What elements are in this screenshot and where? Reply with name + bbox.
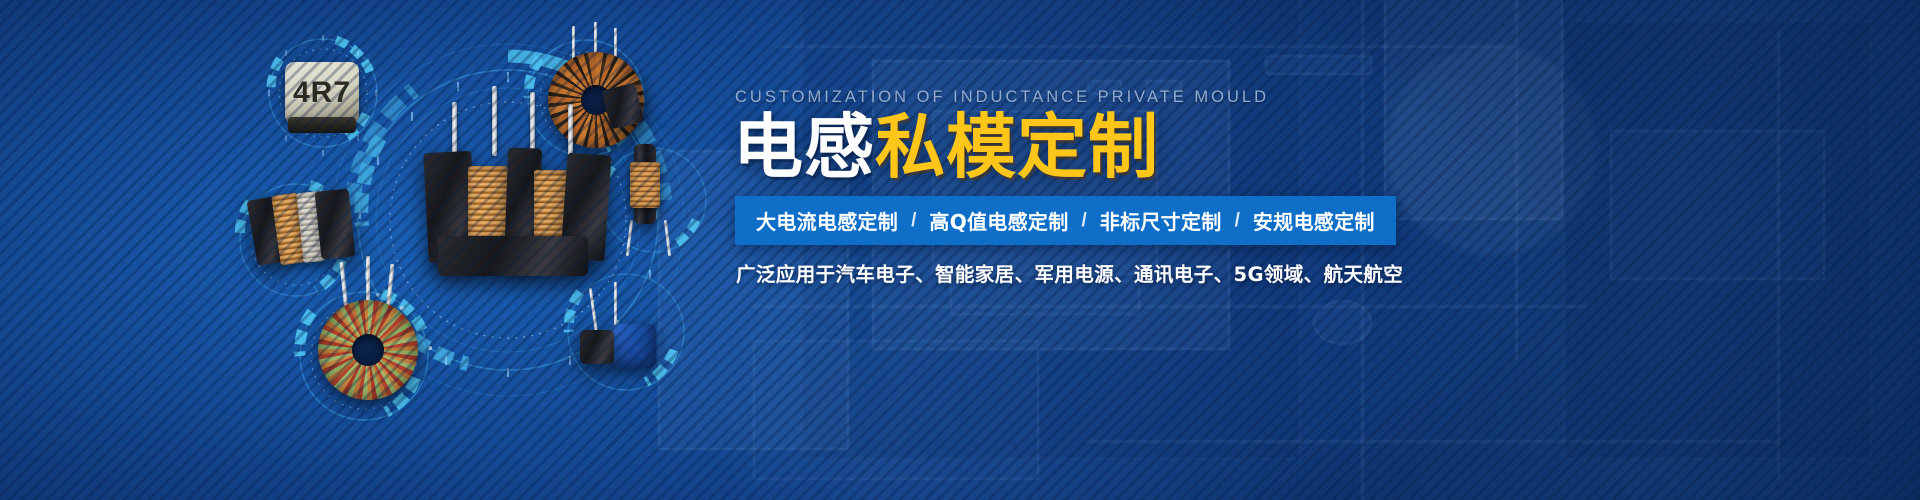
product-toroid-green-bottom bbox=[318, 300, 418, 400]
feature-item-0: 大电流电感定制 bbox=[756, 206, 898, 235]
product-drum-core-inductor bbox=[620, 150, 680, 242]
smd-chip-body: 4R7 bbox=[285, 62, 359, 124]
page-title: 电感私模定制 bbox=[733, 112, 1159, 182]
feature-bar: 大电流电感定制 / 高Q值电感定制 / 非标尺寸定制 / 安规电感定制 bbox=[735, 196, 1396, 245]
english-eyebrow: CUSTOMIZATION OF INDUCTANCE PRIVATE MOUL… bbox=[735, 88, 1269, 107]
product-ee-transformer-cluster bbox=[408, 108, 618, 278]
feature-item-3: 安规电感定制 bbox=[1253, 206, 1375, 235]
feature-separator-1: / bbox=[1069, 210, 1100, 232]
inductance-custom-mould-banner: 4R7 bbox=[0, 0, 1920, 500]
smd-chip-code: 4R7 bbox=[293, 76, 351, 110]
headline-white-part: 电感 bbox=[733, 106, 875, 188]
product-smd-chip-inductor: 4R7 bbox=[285, 62, 359, 124]
feature-item-1: 高Q值电感定制 bbox=[929, 206, 1068, 235]
product-bobbin-transformer-left bbox=[252, 190, 356, 272]
feature-item-2: 非标尺寸定制 bbox=[1100, 206, 1222, 235]
product-radial-blue-choke bbox=[576, 288, 662, 398]
application-tagline: 广泛应用于汽车电子、智能家居、军用电源、通讯电子、5G领域、航天航空 bbox=[736, 258, 1403, 287]
feature-separator-2: / bbox=[1222, 210, 1253, 232]
feature-separator-0: / bbox=[898, 210, 929, 232]
banner-text-content: CUSTOMIZATION OF INDUCTANCE PRIVATE MOUL… bbox=[735, 0, 1795, 500]
headline-gold-part: 私模定制 bbox=[875, 106, 1159, 188]
